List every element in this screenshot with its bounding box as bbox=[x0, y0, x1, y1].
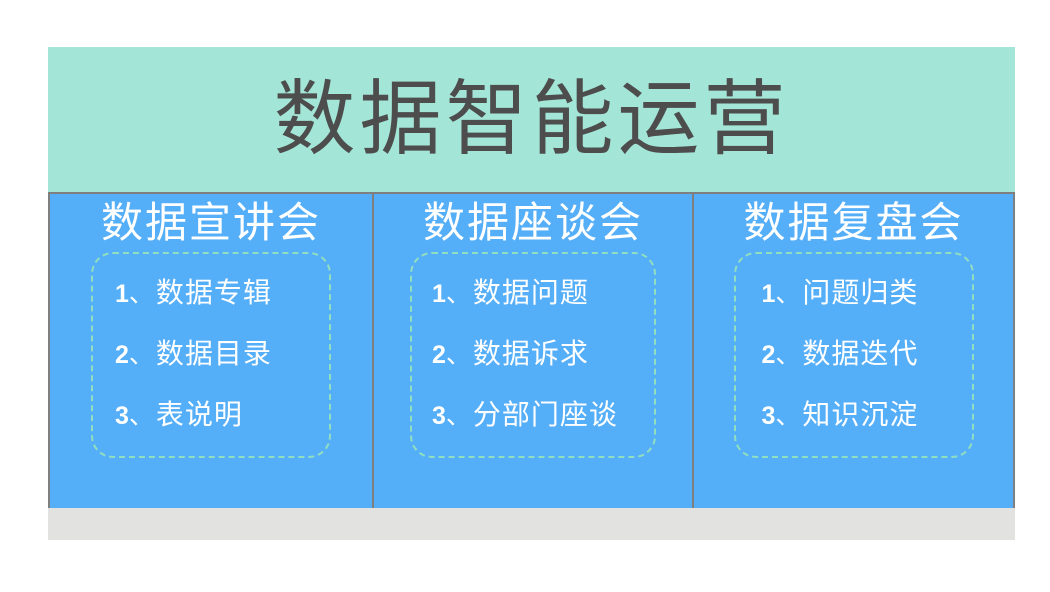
list-item: 3 、 表说明 bbox=[115, 402, 243, 430]
item-label: 数据问题 bbox=[473, 280, 589, 308]
item-card-2: 1 、 数据问题 2 、 数据诉求 3 、 分部门座谈 bbox=[410, 252, 656, 458]
item-index: 3 bbox=[115, 404, 129, 429]
list-item: 2 、 数据目录 bbox=[115, 341, 272, 369]
item-separator: 、 bbox=[446, 343, 471, 368]
list-item: 1 、 数据专辑 bbox=[115, 280, 272, 308]
item-index: 2 bbox=[115, 343, 129, 368]
list-item: 3 、 分部门座谈 bbox=[432, 402, 618, 430]
item-label: 数据专辑 bbox=[156, 280, 272, 308]
item-label: 数据迭代 bbox=[802, 341, 918, 369]
item-label: 数据诉求 bbox=[473, 341, 589, 369]
columns-band: 数据宣讲会 1 、 数据专辑 2 、 数据目录 3 、 表说明 bbox=[48, 192, 1015, 508]
item-separator: 、 bbox=[775, 404, 800, 429]
title-banner: 数据智能运营 bbox=[48, 47, 1015, 192]
item-separator: 、 bbox=[446, 282, 471, 307]
column-data-briefing: 数据宣讲会 1 、 数据专辑 2 、 数据目录 3 、 表说明 bbox=[50, 194, 372, 508]
item-separator: 、 bbox=[129, 282, 154, 307]
item-separator: 、 bbox=[129, 343, 154, 368]
item-index: 1 bbox=[115, 282, 129, 307]
list-item: 2 、 数据诉求 bbox=[432, 341, 589, 369]
list-item: 2 、 数据迭代 bbox=[762, 341, 919, 369]
item-index: 2 bbox=[432, 343, 446, 368]
column-data-review: 数据复盘会 1 、 问题归类 2 、 数据迭代 3 、 知识沉淀 bbox=[694, 194, 1013, 508]
item-card-1: 1 、 数据专辑 2 、 数据目录 3 、 表说明 bbox=[91, 252, 331, 458]
column-heading-3: 数据复盘会 bbox=[743, 202, 963, 246]
list-item: 1 、 数据问题 bbox=[432, 280, 589, 308]
item-label: 问题归类 bbox=[802, 280, 918, 308]
item-label: 数据目录 bbox=[156, 341, 272, 369]
item-index: 1 bbox=[762, 282, 776, 307]
item-separator: 、 bbox=[129, 404, 154, 429]
page-title: 数据智能运营 bbox=[273, 79, 789, 161]
item-separator: 、 bbox=[446, 404, 471, 429]
list-item: 3 、 知识沉淀 bbox=[762, 402, 919, 430]
item-label: 分部门座谈 bbox=[473, 402, 618, 430]
slide-canvas: 数据智能运营 数据宣讲会 1 、 数据专辑 2 、 数据目录 3 、 bbox=[0, 0, 1050, 592]
item-index: 2 bbox=[762, 343, 776, 368]
item-card-3: 1 、 问题归类 2 、 数据迭代 3 、 知识沉淀 bbox=[734, 252, 974, 458]
item-label: 知识沉淀 bbox=[802, 402, 918, 430]
item-label: 表说明 bbox=[156, 402, 243, 430]
item-separator: 、 bbox=[775, 343, 800, 368]
column-data-forum: 数据座谈会 1 、 数据问题 2 、 数据诉求 3 、 分部门座谈 bbox=[372, 194, 694, 508]
column-heading-1: 数据宣讲会 bbox=[101, 202, 321, 246]
column-heading-2: 数据座谈会 bbox=[423, 202, 643, 246]
footer-strip bbox=[48, 508, 1015, 540]
list-item: 1 、 问题归类 bbox=[762, 280, 919, 308]
item-index: 1 bbox=[432, 282, 446, 307]
item-index: 3 bbox=[762, 404, 776, 429]
item-separator: 、 bbox=[775, 282, 800, 307]
item-index: 3 bbox=[432, 404, 446, 429]
